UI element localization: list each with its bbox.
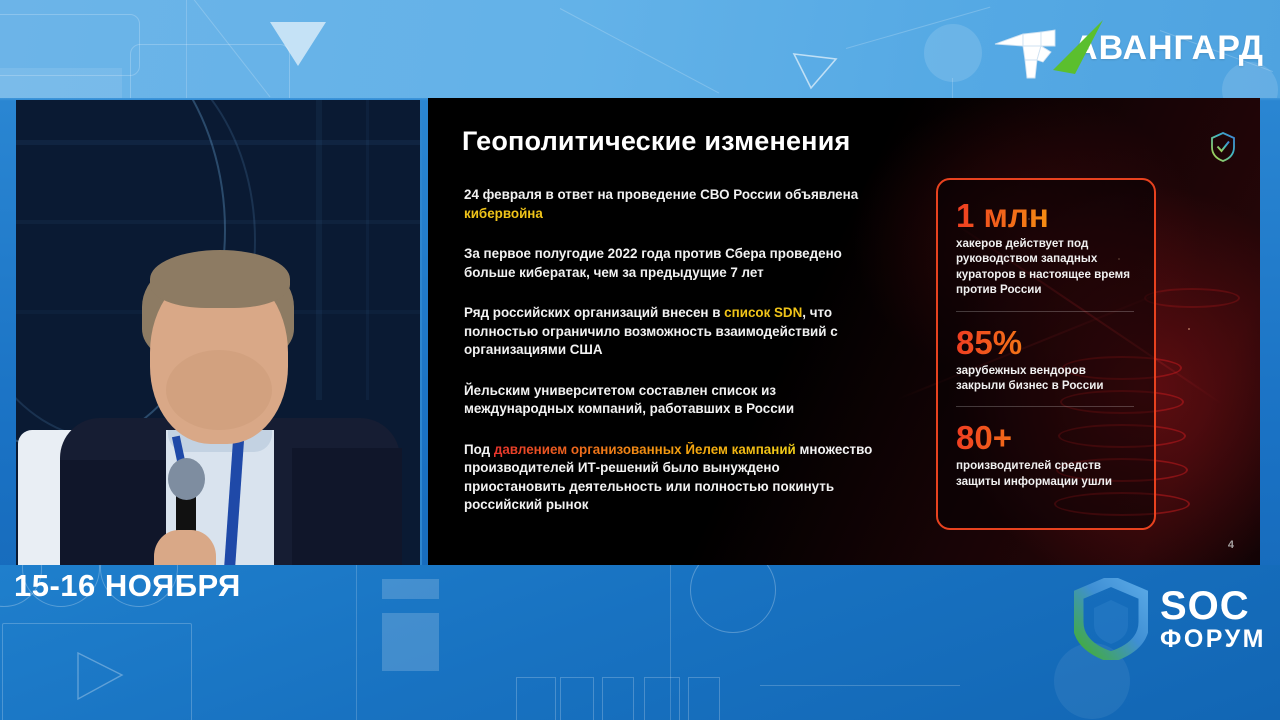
stat-value: 1 млн — [956, 198, 1138, 234]
stat-value: 80+ — [956, 420, 1138, 456]
stat-item: 85%зарубежных вендоров закрыли бизнес в … — [956, 325, 1138, 394]
slide-paragraph: За первое полугодие 2022 года против Сбе… — [464, 245, 884, 282]
slide-body-text: 24 февраля в ответ на проведение СВО Рос… — [464, 186, 884, 515]
decor-vline-2 — [952, 78, 953, 98]
avangard-logo: АВАНГАРД — [993, 16, 1264, 80]
decor-filled-rect-3 — [382, 613, 439, 671]
decor-bar-5 — [688, 677, 720, 720]
decor-ring-4 — [690, 565, 776, 633]
decor-rounded-rect-2 — [130, 44, 290, 98]
jacket-shadow-left — [60, 460, 166, 565]
decor-bar-2 — [560, 677, 594, 720]
stat-separator — [956, 311, 1134, 312]
decor-circle-node — [924, 24, 982, 82]
face-shadow — [166, 350, 272, 430]
slide-paragraph: Ряд российских организаций внесен в спис… — [464, 304, 884, 360]
stat-description: зарубежных вендоров закрыли бизнес в Рос… — [956, 363, 1138, 394]
soc-forum-logo: SOC ФОРУМ — [1074, 578, 1266, 660]
stat-description: производителей средств защиты информации… — [956, 458, 1138, 489]
paragraph-text: 24 февраля в ответ на проведение СВО Рос… — [464, 187, 858, 202]
decor-triangle-solid — [270, 22, 326, 66]
soc-title-text: SOC — [1160, 586, 1266, 626]
stat-item: 80+производителей средств защиты информа… — [956, 420, 1138, 489]
highlighted-text: давлением организованных Йелем кампаний — [494, 442, 796, 457]
decor-triangle-outline-icon — [792, 50, 838, 90]
green-triangle-icon — [1047, 18, 1109, 78]
slide-paragraph: Йельским университетом составлен список … — [464, 382, 884, 419]
spark-2 — [1188, 328, 1190, 330]
statistics-card: 1 млнхакеров действует под руководством … — [936, 178, 1156, 530]
decor-bar-1 — [516, 677, 556, 720]
soc-subtitle-text: ФОРУМ — [1160, 627, 1266, 652]
stat-description: хакеров действует под руководством запад… — [956, 236, 1138, 298]
decor-rounded-rect-1 — [0, 14, 140, 76]
jacket-shadow-right — [292, 448, 402, 565]
paragraph-text: Йельским университетом составлен список … — [464, 383, 794, 417]
presentation-slide[interactable]: Геополитические изменения 24 февраля в о… — [428, 98, 1260, 565]
slide-paragraph: Под давлением организованных Йелем кампа… — [464, 441, 884, 515]
decor-bar-3 — [602, 677, 634, 720]
speaker-hair-top — [150, 250, 290, 308]
decor-play-triangle-icon — [74, 649, 134, 704]
studio-stripe-4 — [316, 100, 322, 400]
microphone-head — [168, 458, 205, 500]
decor-filled-rect-1 — [0, 68, 122, 98]
paragraph-text: За первое полугодие 2022 года против Сбе… — [464, 246, 842, 280]
stat-value: 85% — [956, 325, 1138, 361]
decor-filled-rect-2 — [382, 579, 439, 599]
decor-vline-4 — [670, 565, 671, 720]
soc-shield-icon — [1074, 578, 1148, 660]
server-rack-ring-6 — [1144, 288, 1240, 308]
speaker-hand-left — [154, 530, 216, 565]
decor-bar-4 — [644, 677, 680, 720]
decor-line-2 — [560, 8, 719, 93]
shield-check-icon — [1210, 132, 1236, 162]
slide-paragraph: 24 февраля в ответ на проведение СВО Рос… — [464, 186, 884, 223]
paragraph-text: Ряд российских организаций внесен в — [464, 305, 724, 320]
highlighted-text: список SDN — [724, 305, 802, 320]
paragraph-text: Под — [464, 442, 494, 457]
event-date-banner: 15-16 НОЯБРЯ — [14, 568, 241, 604]
decor-vline-3 — [356, 565, 357, 720]
decor-vline-1 — [186, 0, 187, 98]
highlighted-text: кибервойна — [464, 206, 543, 221]
slide-title: Геополитические изменения — [462, 126, 850, 157]
decor-line-5 — [760, 685, 960, 686]
slide-page-number: 4 — [1228, 539, 1234, 551]
stat-item: 1 млнхакеров действует под руководством … — [956, 198, 1138, 298]
studio-stripe-5 — [366, 100, 369, 400]
speaker-video-feed[interactable] — [16, 100, 422, 565]
stat-separator — [956, 406, 1134, 407]
